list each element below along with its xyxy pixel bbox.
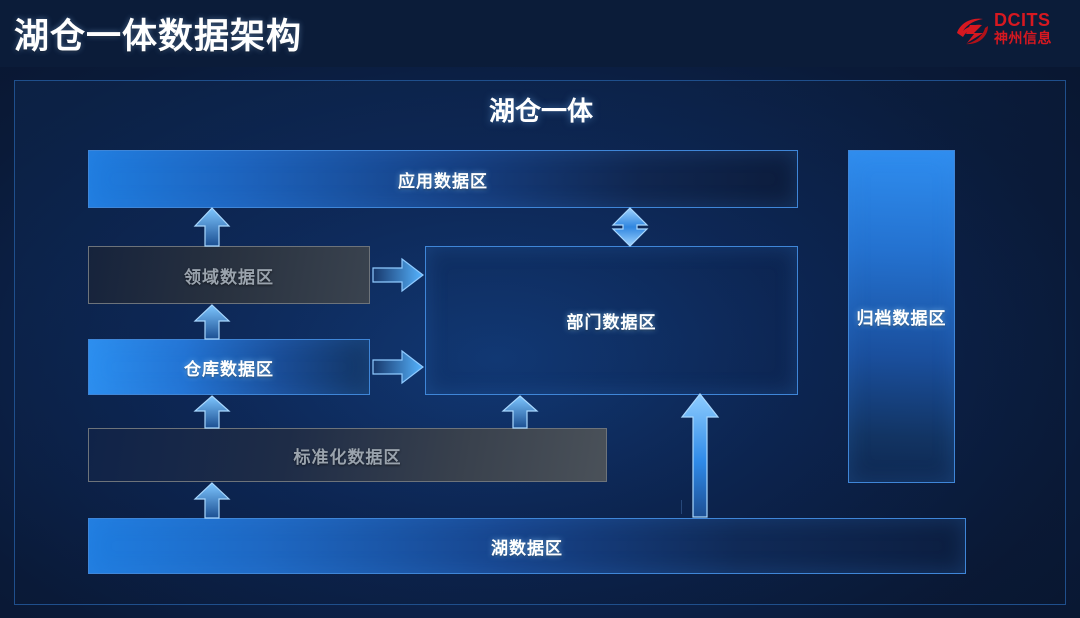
- arrow-lake-to-department: [680, 393, 720, 518]
- zone-box-department[interactable]: 部门数据区: [425, 246, 798, 395]
- zone-box-lake[interactable]: 湖数据区: [88, 518, 966, 574]
- zone-box-standardized[interactable]: 标准化数据区: [88, 428, 607, 482]
- zone-label-domain: 领域数据区: [184, 263, 274, 288]
- zone-label-application: 应用数据区: [398, 167, 488, 192]
- arrow-warehouse-to-department: [372, 350, 424, 384]
- connector-stub: [681, 500, 682, 514]
- dcits-swoosh-icon: [954, 13, 992, 49]
- arrow-warehouse-to-domain: [193, 304, 231, 340]
- zone-label-department: 部门数据区: [567, 308, 657, 333]
- zone-box-application[interactable]: 应用数据区: [88, 150, 798, 208]
- arrow-standardized-to-department: [501, 395, 539, 429]
- zone-box-archive[interactable]: 归档数据区: [848, 150, 955, 483]
- logo-text-cn: 神州信息: [994, 30, 1068, 47]
- arrow-standardized-to-warehouse: [193, 395, 231, 429]
- slide-header: 湖仓一体数据架构 DCITS 神州信息: [0, 0, 1080, 67]
- zone-label-lake: 湖数据区: [491, 534, 563, 559]
- arrow-domain-to-department: [372, 258, 424, 292]
- brand-logo: DCITS 神州信息: [954, 9, 1068, 55]
- panel-title: 湖仓一体: [15, 91, 1067, 128]
- logo-text-en: DCITS: [994, 11, 1068, 30]
- zone-label-standardized: 标准化数据区: [294, 443, 402, 468]
- arrow-domain-to-application: [193, 207, 231, 247]
- arrow-application-department-bidirectional: [611, 207, 649, 247]
- zone-box-domain[interactable]: 领域数据区: [88, 246, 370, 304]
- arrow-lake-to-standardized: [193, 482, 231, 519]
- zone-label-warehouse: 仓库数据区: [184, 355, 274, 380]
- slide-canvas: 湖仓一体数据架构 DCITS 神州信息 湖仓一体 应用数据区 领域数据区 仓库数…: [0, 0, 1080, 618]
- page-title: 湖仓一体数据架构: [14, 8, 302, 59]
- logo-wordmark: DCITS 神州信息: [994, 11, 1068, 47]
- zone-label-archive: 归档数据区: [857, 304, 947, 329]
- zone-box-warehouse[interactable]: 仓库数据区: [88, 339, 370, 395]
